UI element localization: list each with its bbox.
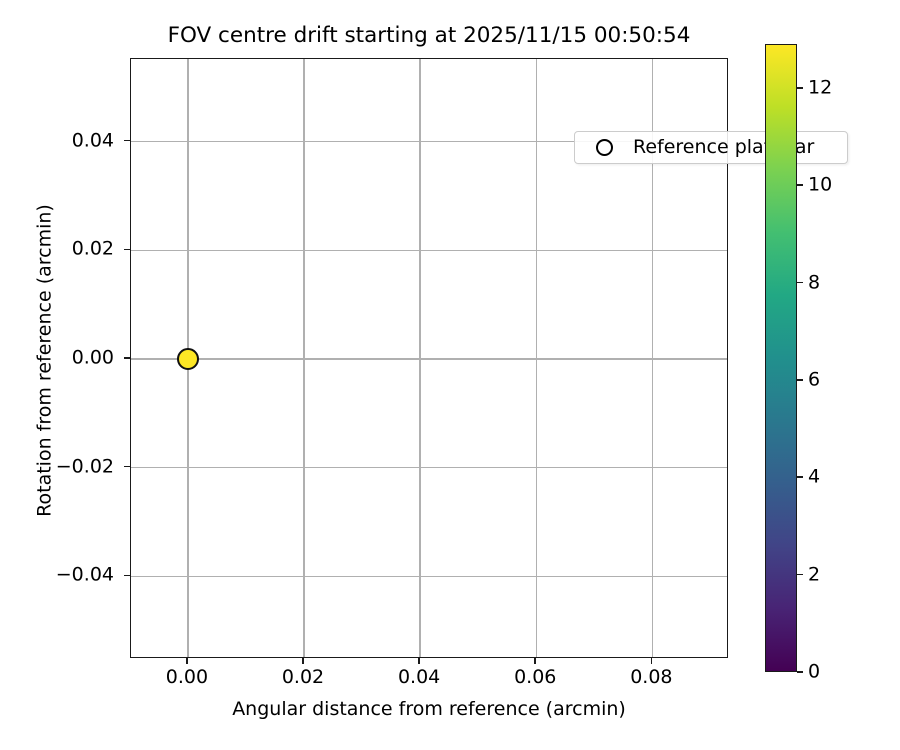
y-tick-label: −0.02 (56, 457, 114, 476)
x-tick-mark (534, 658, 536, 664)
legend: Reference platepar (574, 131, 848, 164)
x-tick-mark (302, 658, 304, 664)
colorbar-tick-label: 12 (808, 78, 832, 97)
colorbar-tick-mark (797, 282, 803, 284)
open-circle-marker-icon (596, 139, 613, 156)
x-axis-label: Angular distance from reference (arcmin) (130, 700, 728, 719)
matplotlib-figure: FOV centre drift starting at 2025/11/15 … (0, 0, 900, 750)
colorbar-tick-mark (797, 476, 803, 478)
y-tick-label: 0.00 (72, 349, 114, 368)
y-tick-mark (124, 357, 130, 359)
x-tick-mark (651, 658, 653, 664)
y-tick-label: −0.04 (56, 566, 114, 585)
colorbar-tick-label: 4 (808, 468, 820, 487)
x-tick-label: 0.02 (282, 668, 324, 687)
y-tick-label: 0.04 (72, 131, 114, 150)
colorbar-tick-label: 8 (808, 273, 820, 292)
legend-marker-wrap (575, 139, 633, 156)
colorbar-tick-label: 2 (808, 565, 820, 584)
y-tick-mark (124, 249, 130, 251)
page-title: FOV centre drift starting at 2025/11/15 … (130, 25, 728, 47)
colorbar-tick-mark (797, 184, 803, 186)
colorbar-tick-label: 6 (808, 370, 820, 389)
x-tick-mark (418, 658, 420, 664)
colorbar-tick-label: 0 (808, 663, 820, 682)
colorbar (765, 44, 797, 672)
y-tick-label: 0.02 (72, 240, 114, 259)
colorbar-tick-mark (797, 379, 803, 381)
x-tick-label: 0.04 (398, 668, 440, 687)
x-tick-mark (186, 658, 188, 664)
y-axis-label: Rotation from reference (arcmin) (36, 61, 55, 661)
colorbar-gradient (766, 45, 796, 671)
y-tick-mark (124, 140, 130, 142)
x-tick-label: 0.08 (630, 668, 672, 687)
colorbar-tick-mark (797, 671, 803, 673)
x-tick-label: 0.06 (514, 668, 556, 687)
colorbar-tick-label: 10 (808, 176, 832, 195)
colorbar-tick-mark (797, 87, 803, 89)
scatter-point (177, 348, 199, 370)
y-tick-mark (124, 575, 130, 577)
y-tick-mark (124, 466, 130, 468)
x-tick-label: 0.00 (166, 668, 208, 687)
plot-axes: Reference platepar (130, 58, 728, 658)
colorbar-tick-mark (797, 574, 803, 576)
